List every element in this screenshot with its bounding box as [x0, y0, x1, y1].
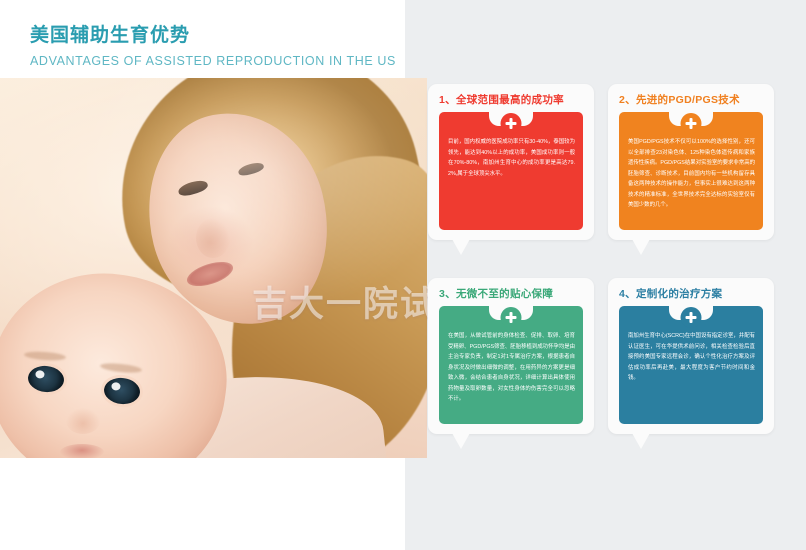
card-panel-1: 目前，国内权威的医院成功率只有30-40%，泰国较为领先，能达到40%以上的成功…: [439, 112, 583, 230]
card-text-4: 南加州生育中心(SCRC)在中国设有指定诊室，并配有认证医生，可在华提供术前问诊…: [628, 331, 755, 384]
card-text-2: 美国PGD/PGS技术不仅可以100%的选择性别，还可以全部排查23对染色体、1…: [628, 137, 755, 211]
title-chinese: 美国辅助生育优势: [30, 24, 400, 48]
card-text-1: 目前，国内权威的医院成功率只有30-40%，泰国较为领先，能达到40%以上的成功…: [448, 137, 575, 179]
card-panel-3: 在美国，从做试管前的身体检查、促排、取卵、培育受精卵、PGD/PGS筛查、胚胎移…: [439, 306, 583, 424]
photo-highlight: [0, 78, 427, 458]
card-tail: [632, 239, 650, 255]
card-title-3: 3、无微不至的贴心保障: [439, 286, 586, 301]
advantage-card-2[interactable]: 2、先进的PGD/PGS技术 美国PGD/PGS技术不仅可以100%的选择性别，…: [608, 84, 774, 240]
advantage-card-1[interactable]: 1、全球范围最高的成功率 目前，国内权威的医院成功率只有30-40%，泰国较为领…: [428, 84, 594, 240]
slide-root: 美国辅助生育优势 ADVANTAGES OF ASSISTED REPRODUC…: [0, 0, 806, 550]
card-title-4: 4、定制化的治疗方案: [619, 286, 766, 301]
card-tail: [452, 239, 470, 255]
card-title-2: 2、先进的PGD/PGS技术: [619, 92, 766, 107]
plus-icon: [501, 113, 522, 134]
advantage-card-grid: 1、全球范围最高的成功率 目前，国内权威的医院成功率只有30-40%，泰国较为领…: [428, 84, 788, 464]
hero-photo: [0, 78, 427, 458]
advantage-card-4[interactable]: 4、定制化的治疗方案 南加州生育中心(SCRC)在中国设有指定诊室，并配有认证医…: [608, 278, 774, 434]
plus-icon: [501, 307, 522, 328]
card-text-3: 在美国，从做试管前的身体检查、促排、取卵、培育受精卵、PGD/PGS筛查、胚胎移…: [448, 331, 575, 405]
plus-icon: [681, 307, 702, 328]
card-tail: [632, 433, 650, 449]
card-tail: [452, 433, 470, 449]
advantage-card-3[interactable]: 3、无微不至的贴心保障 在美国，从做试管前的身体检查、促排、取卵、培育受精卵、P…: [428, 278, 594, 434]
title-english: ADVANTAGES OF ASSISTED REPRODUCTION IN T…: [30, 54, 400, 68]
card-panel-4: 南加州生育中心(SCRC)在中国设有指定诊室，并配有认证医生，可在华提供术前问诊…: [619, 306, 763, 424]
page-title: 美国辅助生育优势 ADVANTAGES OF ASSISTED REPRODUC…: [30, 24, 400, 68]
card-title-1: 1、全球范围最高的成功率: [439, 92, 586, 107]
card-panel-2: 美国PGD/PGS技术不仅可以100%的选择性别，还可以全部排查23对染色体、1…: [619, 112, 763, 230]
plus-icon: [681, 113, 702, 134]
